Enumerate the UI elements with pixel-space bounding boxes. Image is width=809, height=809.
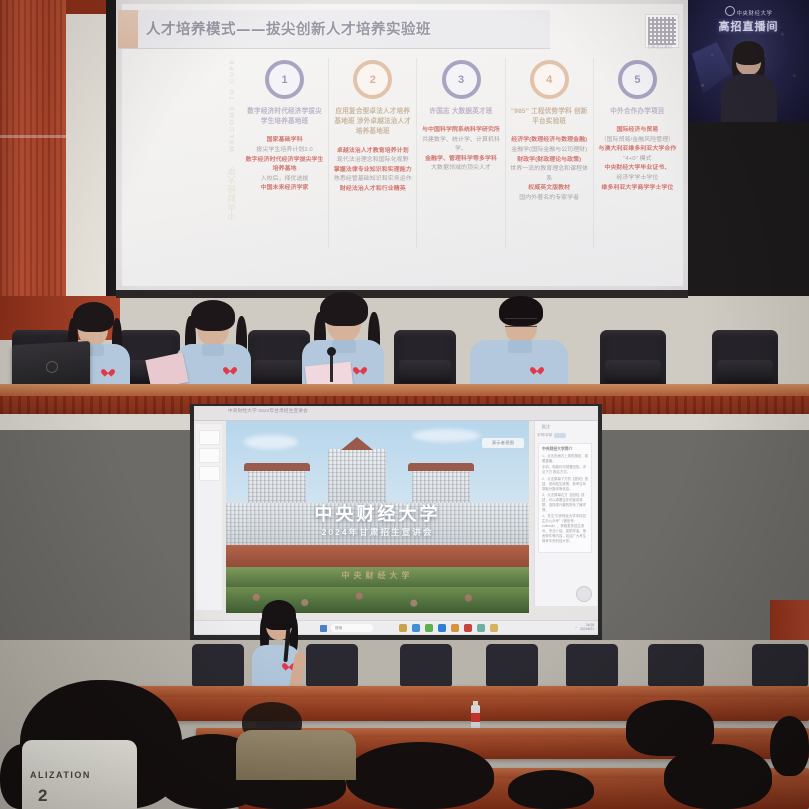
laptop[interactable] (12, 341, 90, 390)
slide-title: 人才培养模式——拔尖创新人才培养实验班 (146, 18, 566, 39)
window-title: 中央财经大学-2024年甘肃招生宣讲会 (228, 408, 308, 414)
column-number-badge: 5 (618, 60, 657, 99)
column-line: （国际贸易/金融风险管理） (598, 136, 676, 146)
powerpoint-icon[interactable] (464, 624, 472, 632)
search-input[interactable]: 搜索 (331, 624, 373, 632)
slide-side-text-cn: 中央财经大学 (226, 150, 240, 220)
campus-gate-wall (226, 545, 529, 569)
livestream-decoration (692, 42, 732, 94)
panelist-2-heart-logo (226, 366, 235, 375)
windows-taskbar[interactable]: 搜索 ^ 16:28 2024/6/21 (194, 620, 598, 635)
column-line: 权威英文版教材 (509, 184, 590, 194)
column-heading: 许国志 大数据英才班 (429, 107, 492, 117)
ppt-subtitle: 2024年甘肃招生宣讲会 (226, 526, 529, 538)
excel-icon[interactable] (425, 624, 433, 632)
column-body: 国际经济与贸易（国际贸易/金融风险管理）与澳大利亚维多利亚大学合作"4+0" 模… (598, 126, 676, 193)
clock-date: 2024/6/21 (580, 628, 594, 632)
side-panel-pill[interactable] (554, 433, 566, 438)
university-seal-icon (725, 6, 735, 16)
column-number-badge: 2 (353, 60, 392, 99)
audience-head (664, 744, 772, 809)
side-panel-tab[interactable]: 批注 (542, 424, 550, 430)
column-line: 大数据领域的顶尖人才 (420, 164, 501, 174)
qr-caption: 扫码关注我们 (640, 45, 680, 50)
column-body: 卓越法治人才教育培养计划现代法治理念和国际化视野掌握法律专业知识和实理能力熟悉经… (334, 147, 412, 195)
panelist-1-heart-logo (104, 368, 113, 377)
start-icon[interactable] (320, 625, 327, 632)
front-row-chair (400, 644, 452, 686)
panel-chair (394, 330, 456, 388)
column-line: 卓越法治人才教育培养计划 (334, 147, 412, 157)
slide-column-5: 5中外合作办学项目国际经济与贸易（国际贸易/金融风险管理）与澳大利亚维多利亚大学… (594, 58, 681, 248)
qr-code-icon (645, 14, 679, 48)
column-heading: "985" 工程优势学科 创新平台实验班 (509, 107, 590, 127)
front-row-chair (306, 644, 358, 686)
column-line: 金融学(国际金融与公司理财) (509, 146, 590, 156)
slide-column-4: 4"985" 工程优势学科 创新平台实验班经济学(数理经济与数理金融)金融学(国… (506, 58, 594, 248)
column-line: 金融学、管理科学等多学科 (420, 155, 501, 165)
column-line: 财经法治人才和行业精英 (334, 185, 412, 195)
column-number-badge: 1 (265, 60, 304, 99)
column-line: 国内外著名的专家学者 (509, 194, 590, 204)
side-panel-item: 手机、电脑均可观看回放。详见下方 报名方式。 (542, 465, 588, 475)
column-number-badge: 4 (530, 60, 569, 99)
column-heading: 中外合作办学项目 (610, 107, 664, 117)
taskbar-tray[interactable]: ^ 16:28 2024/6/21 (575, 624, 594, 631)
column-line: 经济学(数理经济与数理金融) (509, 136, 590, 146)
column-line: 维多利亚大学商学学士学位 (598, 184, 676, 194)
column-line: 世界一流的教育理念和课程体系 (509, 165, 590, 184)
side-panel-heading: 中央财经大学简介 (542, 447, 588, 452)
side-panel-toolbar-label: 字号/字体 (537, 433, 552, 438)
livestream-panel: 中央财经大学 高招直播间 (688, 0, 809, 122)
water-bottle-label (471, 713, 480, 722)
column-heading: 数字经济时代经济学拔尖学生培养基地班 (244, 107, 325, 127)
browser-icon[interactable] (438, 624, 446, 632)
audience-head (346, 742, 494, 809)
side-panel-item: 4、关注"中央财经大学本科招生办公众号"（微信号：cufezsb），获取更多招生… (542, 514, 588, 544)
glasses-icon (505, 318, 537, 327)
conference-room-photo: 人才培养模式——拔尖创新人才培养实验班 扫码关注我们 WELCOME TO CU… (0, 0, 809, 809)
taskbar-icons[interactable] (399, 624, 498, 632)
panelist-1-hair-top (73, 302, 114, 332)
column-body: 国家基础学科拔尖学生培养计划2.0数字经济时代经济学拔尖学生培养基地入校后，择优… (244, 136, 325, 193)
audience-head (508, 770, 594, 809)
slide-thumbnail[interactable] (199, 448, 220, 463)
livestream-org: 中央财经大学 (688, 6, 809, 17)
audience-head (770, 716, 809, 776)
slide-thumbnail[interactable] (199, 430, 220, 445)
left-white-panel (66, 14, 106, 300)
chrome-icon[interactable] (451, 624, 459, 632)
side-panel-item: 1、点击页面右上角的按钮，观看直播； (542, 454, 588, 464)
slide-title-accent (118, 10, 138, 48)
folder-icon[interactable] (399, 624, 407, 632)
column-line: 国家基础学科 (244, 136, 325, 146)
panelist-4-heart-logo (533, 366, 542, 375)
jacket-text: ALIZATION (30, 770, 130, 780)
front-row-chair (192, 644, 244, 686)
column-line: 共建数学、统计学、计算机科学、 (420, 136, 501, 155)
slide-columns: 1数字经济时代经济学拔尖学生培养基地班国家基础学科拔尖学生培养计划2.0数字经济… (241, 58, 681, 248)
panelist-2-collar (202, 344, 224, 356)
side-panel-action-icon[interactable] (576, 586, 592, 602)
slide-thumbnail[interactable] (199, 466, 220, 481)
column-line: "4+0" 模式 (598, 155, 676, 165)
panel-chair-empty (712, 330, 778, 388)
chevron-up-icon[interactable]: ^ (575, 626, 577, 630)
column-line: 经济学学士学位 (598, 174, 676, 184)
slide-column-1: 1数字经济时代经济学拔尖学生培养基地班国家基础学科拔尖学生培养计划2.0数字经济… (241, 58, 329, 248)
column-number-badge: 3 (442, 60, 481, 99)
livestream-host-body (721, 74, 777, 122)
slide-side-text-en: WELCOME TO CUFE (229, 56, 241, 152)
side-panel-item: 2、点击屏幕下方的【提问】按钮，咨询招生政策、参考往年录取分数线等信息。 (542, 477, 588, 492)
front-row-chair (486, 644, 538, 686)
column-line: 数字经济时代经济学拔尖学生培养基地 (244, 156, 325, 175)
explorer-icon[interactable] (490, 624, 498, 632)
upper-screen-bottom-edge (116, 290, 688, 298)
livestream-host-hair (733, 41, 764, 65)
livestream-title: 高招直播间 (688, 18, 809, 34)
panelist-3-hair-top (320, 292, 368, 326)
livestream-host-hair-right (756, 52, 765, 78)
jacket-number: 2 (38, 786, 47, 806)
side-panel-textbox: 中央财经大学简介 1、点击页面右上角的按钮，观看直播；手机、电脑均可观看回放。详… (538, 443, 592, 553)
column-line: 中国未来经济学家 (244, 184, 325, 194)
check-icon[interactable] (412, 624, 420, 632)
campus-gate-text: 中央财经大学 (226, 570, 529, 581)
taskbar-clock[interactable]: 16:28 2024/6/21 (580, 624, 594, 631)
column-line: 掌握法律专业知识和实理能力 (334, 166, 412, 176)
notes-icon[interactable] (477, 624, 485, 632)
column-line: 拔尖学生培养计划2.0 (244, 146, 325, 156)
front-row-chair (752, 644, 808, 686)
column-line: 入校后，择优选拔 (244, 175, 325, 185)
side-panel-item: 3、点击屏幕右方【回放】按钮，可以观看往年的宣讲录屏，选择感兴趣的院系了解详情。 (542, 493, 588, 513)
column-line: 熟悉经管基础知识和实务运作 (334, 175, 412, 185)
column-body: 与中国科学院系统科学研究所共建数学、统计学、计算机科学、金融学、管理科学等多学科… (420, 126, 501, 174)
livestream-host-head (736, 46, 761, 75)
panelist-2-hair-top (191, 300, 235, 331)
front-row-chair (648, 644, 704, 686)
column-line: 国际经济与贸易 (598, 126, 676, 136)
column-line: 与澳大利亚维多利亚大学合作 (598, 145, 676, 155)
column-line: 与中国科学院系统科学研究所 (420, 126, 501, 136)
audience-body (236, 730, 356, 780)
panelist-4-collar (508, 340, 532, 353)
ppt-main-title: 中央财经大学 (226, 500, 529, 526)
table-microphone (330, 352, 333, 382)
livestream-host-hair-left (732, 52, 741, 78)
column-body: 经济学(数理经济与数理金融)金融学(国际金融与公司理财)财政学(财政理论与政策)… (509, 136, 590, 203)
column-heading: 应用复合型卓法人才培养基地班 涉外卓越法治人才培养基地班 (332, 107, 413, 138)
column-line: 现代法治理念和国际化视野 (334, 156, 412, 166)
panelist-3-heart-logo (356, 366, 365, 375)
column-line: 中央财经大学毕业证书、 (598, 164, 676, 174)
slide-column-2: 2应用复合型卓法人才培养基地班 涉外卓越法治人才培养基地班卓越法治人才教育培养计… (329, 58, 417, 248)
slide-column-3: 3许国志 大数据英才班与中国科学院系统科学研究所共建数学、统计学、计算机科学、金… (417, 58, 505, 248)
presenter-view-badge[interactable]: 演示者视图 (482, 438, 524, 448)
front-row-chair (566, 644, 618, 686)
side-panel-toolbar[interactable]: 字号/字体 (537, 432, 593, 439)
water-bottle-cap (473, 701, 478, 706)
panel-chair (248, 330, 310, 388)
panel-chair-empty (600, 330, 666, 388)
laptop-logo (46, 361, 58, 374)
column-line: 财政学(财政理论与政策) (509, 156, 590, 166)
